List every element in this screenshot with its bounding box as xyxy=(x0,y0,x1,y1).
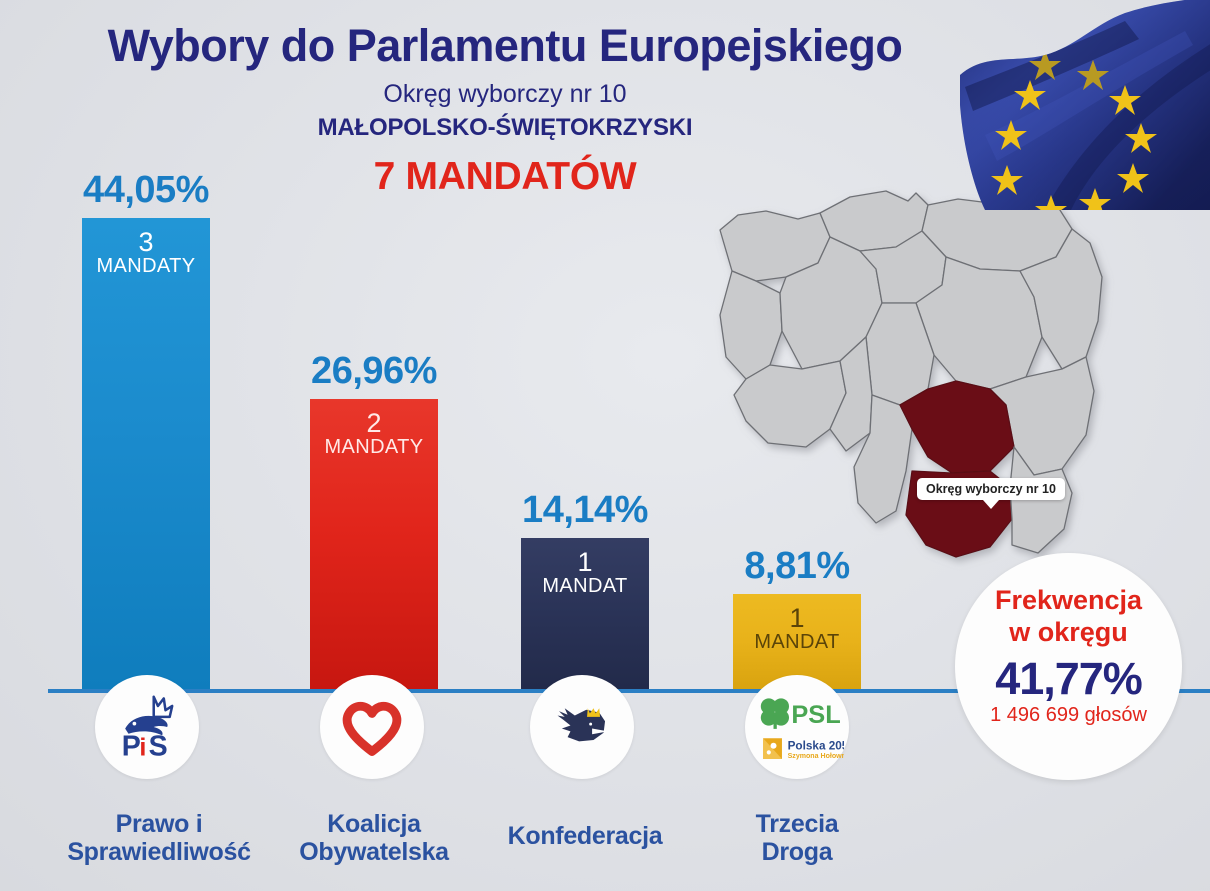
turnout-badge: Frekwencja w okręgu 41,77% 1 496 699 gło… xyxy=(955,553,1182,780)
bar-ko: 26,96% 2 MANDATY xyxy=(310,399,438,689)
party-label-konfederacja: Konfederacja xyxy=(470,822,700,850)
party-label-trzecia-droga: Trzecia Droga xyxy=(690,810,904,866)
heart-icon xyxy=(338,693,406,761)
clover-icon xyxy=(761,698,789,729)
bar-seat-word-trzecia-droga: MANDAT xyxy=(733,632,861,653)
turnout-label-line1: Frekwencja xyxy=(955,585,1182,617)
bar-percent-trzecia-droga: 8,81% xyxy=(744,545,849,588)
party-label-ko-line2: Obywatelska xyxy=(250,838,498,866)
pis-logo-icon: P i S xyxy=(105,685,189,769)
bar-seat-count-konfederacja: 1 xyxy=(521,548,649,576)
svg-text:Szymona Hołowni: Szymona Hołowni xyxy=(788,753,844,760)
turnout-votes: 1 496 699 głosów xyxy=(955,704,1182,727)
map-tooltip-label: Okręg wyborczy nr 10 xyxy=(917,478,1065,500)
party-label-trzecia-droga-line2: Droga xyxy=(690,838,904,866)
bar-seat-count-trzecia-droga: 1 xyxy=(733,604,861,632)
bar-pis: 44,05% 3 MANDATY xyxy=(82,218,210,689)
konfederacja-eagle-icon xyxy=(546,691,618,763)
map-tooltip: Okręg wyborczy nr 10 xyxy=(917,478,1065,500)
bar-seats-trzecia-droga: 1 MANDAT xyxy=(733,604,861,653)
svg-text:P: P xyxy=(122,731,141,763)
party-label-konfederacja-line1: Konfederacja xyxy=(470,822,700,850)
district-name: MAŁOPOLSKO-ŚWIĘTOKRZYSKI xyxy=(0,115,1010,141)
bar-seat-word-ko: MANDATY xyxy=(310,437,438,458)
konfederacja-logo xyxy=(530,675,634,779)
region-lubuskie xyxy=(720,271,782,379)
polska2050-mark xyxy=(763,738,782,759)
ko-heart-logo xyxy=(320,675,424,779)
svg-text:Polska 2050: Polska 2050 xyxy=(788,740,844,753)
district-number: Okręg wyborczy nr 10 xyxy=(0,81,1010,109)
party-label-ko-line1: Koalicja xyxy=(250,810,498,838)
bar-percent-ko: 26,96% xyxy=(311,350,437,393)
pis-logo: P i S xyxy=(95,675,199,779)
bar-konfederacja: 14,14% 1 MANDAT xyxy=(521,538,649,689)
trzecia-droga-logo: PSL Polska 2050 Szymona Hołowni xyxy=(745,675,849,779)
infographic-root: Okręg wyborczy nr 10 Wybory do Parlament… xyxy=(0,0,1210,891)
turnout-label-line2: w okręgu xyxy=(955,617,1182,649)
bar-seat-count-pis: 3 xyxy=(82,228,210,256)
bar-percent-konfederacja: 14,14% xyxy=(522,489,648,532)
header: Wybory do Parlamentu Europejskiego Okręg… xyxy=(0,0,1010,199)
bar-seats-pis: 3 MANDATY xyxy=(82,228,210,277)
total-mandates: 7 MANDATÓW xyxy=(0,156,1010,199)
svg-text:S: S xyxy=(149,731,168,763)
party-label-ko: Koalicja Obywatelska xyxy=(250,810,498,866)
poland-map xyxy=(690,185,1160,585)
page-title: Wybory do Parlamentu Europejskiego xyxy=(0,22,1010,69)
psl-polska2050-icon: PSL Polska 2050 Szymona Hołowni xyxy=(750,680,844,774)
turnout-value: 41,77% xyxy=(955,655,1182,702)
svg-text:PSL: PSL xyxy=(791,701,840,729)
bar-seat-count-ko: 2 xyxy=(310,409,438,437)
bar-seats-ko: 2 MANDATY xyxy=(310,409,438,458)
bar-seat-word-konfederacja: MANDAT xyxy=(521,576,649,597)
bar-seats-konfederacja: 1 MANDAT xyxy=(521,548,649,597)
party-label-trzecia-droga-line1: Trzecia xyxy=(690,810,904,838)
map-tooltip-arrow xyxy=(983,500,999,509)
svg-text:i: i xyxy=(139,734,146,762)
bar-seat-word-pis: MANDATY xyxy=(82,256,210,277)
